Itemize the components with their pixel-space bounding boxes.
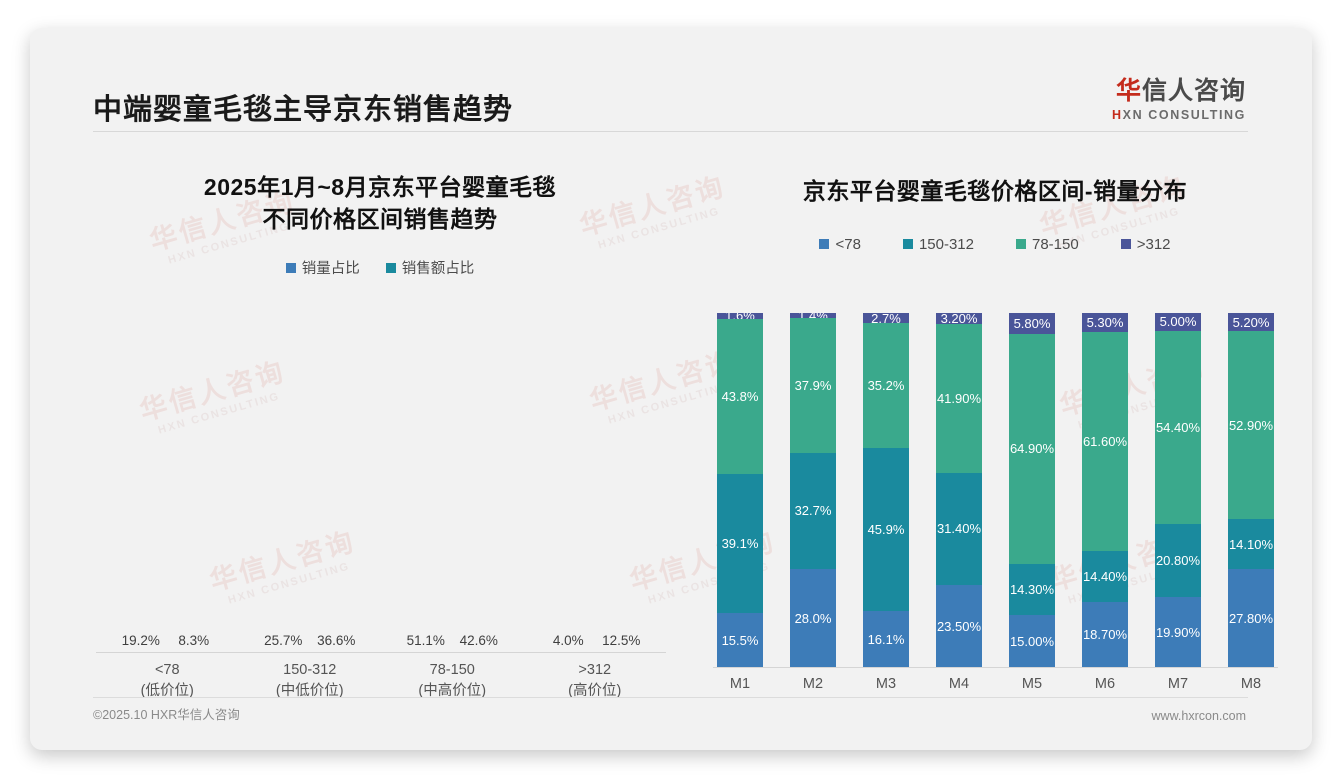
stack-segment[interactable]: 5.30% (1082, 313, 1128, 332)
stack-segment[interactable]: 37.9% (790, 318, 836, 453)
stack-segment-label: 18.70% (1083, 627, 1127, 642)
stacked-column: 1.6%43.8%39.1%15.5% (717, 313, 763, 668)
stack-segment-label: 2.7% (871, 313, 901, 323)
stack-segment-label: 41.90% (937, 391, 981, 406)
legend-label-volume: 销量占比 (302, 257, 360, 278)
legend-label-amount: 销售额占比 (402, 257, 475, 278)
logo-english-text: HXN CONSULTING (1112, 108, 1246, 122)
stack-segment-label: 32.7% (795, 503, 832, 518)
legend-swatch-icon (1016, 239, 1026, 249)
bar-group: 19.2%8.3% (107, 323, 227, 653)
stack-segment[interactable]: 43.8% (717, 319, 763, 474)
stack-segment-label: 52.90% (1229, 418, 1273, 433)
legend-label: 150-312 (919, 236, 974, 253)
bar-group: 25.7%36.6% (250, 323, 370, 653)
stack-segment[interactable]: 27.80% (1228, 569, 1274, 668)
stacked-column: 5.80%64.90%14.30%15.00% (1009, 313, 1055, 668)
stack-segment-label: 19.90% (1156, 625, 1200, 640)
stack-segment[interactable]: 16.1% (863, 611, 909, 668)
stack-segment-label: 5.30% (1087, 315, 1124, 330)
month-label: M7 (1155, 676, 1201, 692)
legend-swatch-icon (286, 263, 296, 273)
grouped-bar-chart: 19.2%8.3%25.7%36.6%51.1%42.6%4.0%12.5% (96, 323, 666, 653)
bar-value-label: 51.1% (407, 633, 445, 648)
stacked-column: 5.30%61.60%14.40%18.70% (1082, 313, 1128, 668)
chart-title-right: 京东平台婴童毛毯价格区间-销量分布 (695, 148, 1295, 208)
stack-segment[interactable]: 31.40% (936, 473, 982, 584)
month-label: M1 (717, 676, 763, 692)
stack-segment[interactable]: 14.10% (1228, 519, 1274, 569)
legend-swatch-icon (819, 239, 829, 249)
slide-header: 中端婴童毛毯主导京东销售趋势 华信人咨询 HXN CONSULTING (30, 28, 1312, 113)
stack-segment[interactable]: 32.7% (790, 453, 836, 569)
stack-segment[interactable]: 5.20% (1228, 313, 1274, 331)
header-divider (93, 131, 1248, 132)
stack-segment-label: 35.2% (868, 378, 905, 393)
stacked-column: 5.00%54.40%20.80%19.90% (1155, 313, 1201, 668)
legend-label: 78-150 (1032, 236, 1079, 253)
legend-swatch-icon (903, 239, 913, 249)
stack-segment[interactable]: 39.1% (717, 474, 763, 613)
stack-segment[interactable]: 35.2% (863, 323, 909, 448)
legend-item->312[interactable]: >312 (1121, 236, 1171, 253)
stack-segment-label: 64.90% (1010, 441, 1054, 456)
month-label: M4 (936, 676, 982, 692)
bar-value-label: 4.0% (553, 633, 584, 648)
legend-right: <78150-31278-150>312 (695, 236, 1295, 253)
stack-segment[interactable]: 45.9% (863, 448, 909, 611)
stack-segment[interactable]: 20.80% (1155, 524, 1201, 598)
stack-segment[interactable]: 15.5% (717, 613, 763, 668)
stack-segment-label: 23.50% (937, 619, 981, 634)
slide-card: 中端婴童毛毯主导京东销售趋势 华信人咨询 HXN CONSULTING 华信人咨… (30, 28, 1312, 750)
legend-item-<78[interactable]: <78 (819, 236, 860, 253)
stack-segment[interactable]: 52.90% (1228, 331, 1274, 519)
stacked-plot-area: 1.6%43.8%39.1%15.5%1.4%37.9%32.7%28.0%2.… (713, 313, 1278, 668)
stacked-column: 5.20%52.90%14.10%27.80% (1228, 313, 1274, 668)
category-label: 78-150(中高价位) (392, 660, 512, 702)
stack-segment-label: 20.80% (1156, 553, 1200, 568)
stack-segment-label: 28.0% (795, 611, 832, 626)
footer-copyright: ©2025.10 HXR华信人咨询 (93, 704, 240, 723)
stack-segment[interactable]: 28.0% (790, 569, 836, 668)
stack-segment[interactable]: 3.20% (936, 313, 982, 324)
stacked-column: 2.7%35.2%45.9%16.1% (863, 313, 909, 668)
legend-label: <78 (835, 236, 860, 253)
bar-value-label: 12.5% (602, 633, 640, 648)
category-axis-labels: <78(低价位)150-312(中低价位)78-150(中高价位)>312(高价… (96, 660, 666, 702)
stack-segment-label: 37.9% (795, 378, 832, 393)
stack-segment-label: 39.1% (722, 536, 759, 551)
stack-segment-label: 27.80% (1229, 611, 1273, 626)
stacked-column: 1.4%37.9%32.7%28.0% (790, 313, 836, 668)
stacked-bar-chart: 1.6%43.8%39.1%15.5%1.4%37.9%32.7%28.0%2.… (713, 313, 1278, 668)
chart-title-left: 2025年1月~8月京东平台婴童毛毯 不同价格区间销售趋势 (70, 148, 690, 235)
category-label: <78(低价位) (107, 660, 227, 702)
chart-panel-volume-distribution: 京东平台婴童毛毯价格区间-销量分布 <78150-31278-150>312 1… (695, 148, 1295, 708)
legend-item-amount[interactable]: 销售额占比 (386, 257, 475, 278)
stack-segment-label: 31.40% (937, 521, 981, 536)
stack-segment-label: 16.1% (868, 632, 905, 647)
stack-segment[interactable]: 14.40% (1082, 551, 1128, 602)
stack-segment[interactable]: 18.70% (1082, 602, 1128, 668)
stack-segment[interactable]: 61.60% (1082, 332, 1128, 551)
footer-website[interactable]: www.hxrcon.com (1152, 709, 1246, 723)
stack-segment-label: 15.5% (722, 633, 759, 648)
stack-segment[interactable]: 5.00% (1155, 313, 1201, 331)
month-axis-labels: M1M2M3M4M5M6M7M8 (713, 676, 1278, 692)
legend-swatch-icon (1121, 239, 1131, 249)
month-label: M3 (863, 676, 909, 692)
legend-left: 销量占比 销售额占比 (70, 257, 690, 278)
stack-segment-label: 45.9% (868, 522, 905, 537)
month-label: M5 (1009, 676, 1055, 692)
category-label: >312(高价位) (535, 660, 655, 702)
stack-segment[interactable]: 23.50% (936, 585, 982, 668)
stack-segment[interactable]: 15.00% (1009, 615, 1055, 668)
stack-segment-label: 54.40% (1156, 420, 1200, 435)
month-label: M2 (790, 676, 836, 692)
chart-title-left-line1: 2025年1月~8月京东平台婴童毛毯 (70, 172, 690, 204)
logo-en-prefix: H (1112, 108, 1123, 122)
bar-value-label: 19.2% (122, 633, 160, 648)
stack-segment[interactable]: 54.40% (1155, 331, 1201, 524)
month-label: M8 (1228, 676, 1274, 692)
stack-segment-label: 14.10% (1229, 537, 1273, 552)
bar-value-label: 25.7% (264, 633, 302, 648)
bar-value-label: 8.3% (178, 633, 209, 648)
x-axis-line (96, 652, 666, 653)
stack-segment-label: 61.60% (1083, 434, 1127, 449)
company-logo: 华信人咨询 HXN CONSULTING (1112, 78, 1246, 122)
stack-segment-label: 15.00% (1010, 634, 1054, 649)
bar-group: 4.0%12.5% (535, 323, 655, 653)
legend-swatch-icon (386, 263, 396, 273)
category-label: 150-312(中低价位) (250, 660, 370, 702)
stack-segment[interactable]: 14.30% (1009, 564, 1055, 615)
bar-group: 51.1%42.6% (392, 323, 512, 653)
stack-segment[interactable]: 64.90% (1009, 334, 1055, 564)
chart-title-left-line2: 不同价格区间销售趋势 (70, 204, 690, 236)
logo-en-rest: XN CONSULTING (1123, 108, 1246, 122)
stack-segment-label: 14.40% (1083, 569, 1127, 584)
legend-item-volume[interactable]: 销量占比 (286, 257, 360, 278)
legend-item-150-312[interactable]: 150-312 (903, 236, 974, 253)
legend-item-78-150[interactable]: 78-150 (1016, 236, 1079, 253)
bar-value-label: 42.6% (460, 633, 498, 648)
stack-segment-label: 3.20% (941, 313, 978, 324)
bar-value-label: 36.6% (317, 633, 355, 648)
logo-hua-char: 华 (1116, 77, 1142, 105)
stack-segment[interactable]: 2.7% (863, 313, 909, 323)
stack-segment[interactable]: 5.80% (1009, 313, 1055, 334)
grouped-plot-area: 19.2%8.3%25.7%36.6%51.1%42.6%4.0%12.5% (96, 323, 666, 653)
month-label: M6 (1082, 676, 1128, 692)
stack-segment-label: 5.20% (1233, 315, 1270, 330)
logo-chinese-rest: 信人咨询 (1142, 77, 1246, 105)
logo-chinese-text: 华信人咨询 (1112, 78, 1246, 106)
stack-segment[interactable]: 41.90% (936, 324, 982, 473)
stack-segment-label: 14.30% (1010, 582, 1054, 597)
footer-divider (93, 697, 1248, 698)
stack-segment-label: 5.80% (1014, 316, 1051, 331)
chart-panel-sales-trend: 2025年1月~8月京东平台婴童毛毯 不同价格区间销售趋势 销量占比 销售额占比… (70, 148, 690, 708)
legend-label: >312 (1137, 236, 1171, 253)
stacked-column: 3.20%41.90%31.40%23.50% (936, 313, 982, 668)
x-axis-line (713, 667, 1278, 668)
stack-segment[interactable]: 19.90% (1155, 597, 1201, 668)
stack-segment-label: 43.8% (722, 389, 759, 404)
stack-segment-label: 5.00% (1160, 314, 1197, 329)
page-title: 中端婴童毛毯主导京东销售趋势 (93, 86, 513, 128)
